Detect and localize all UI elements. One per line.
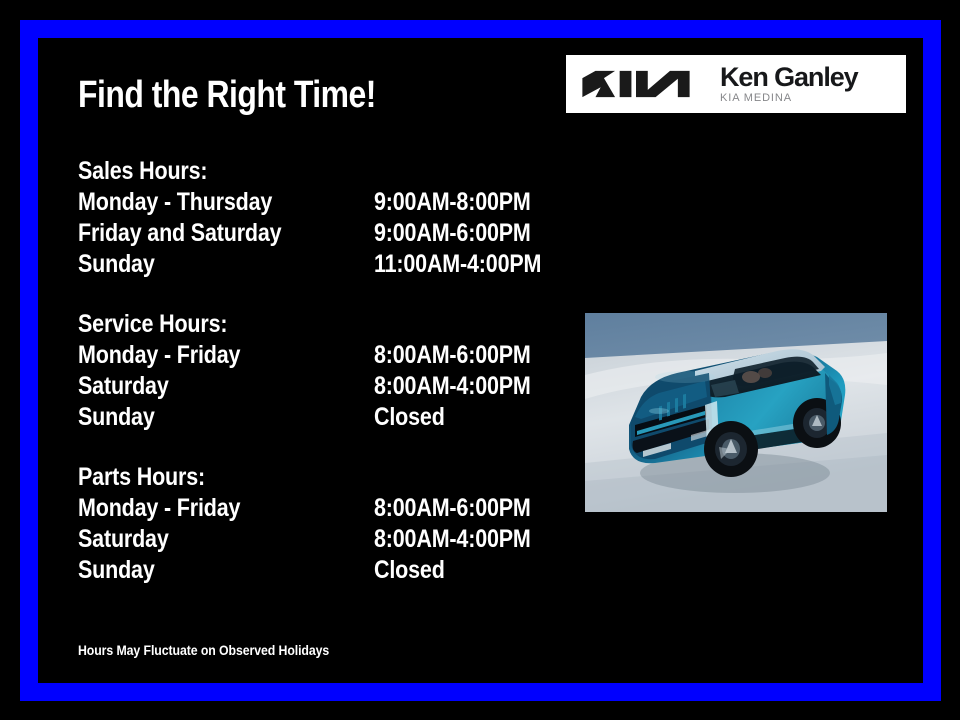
dealer-logo-panel: Ken Ganley KIA MEDINA <box>566 55 906 113</box>
hours-block-heading: Service Hours: <box>78 309 525 340</box>
hours-row: Saturday8:00AM-4:00PM <box>78 371 598 402</box>
hours-row-day: Saturday <box>78 524 333 555</box>
hours-row: Monday - Thursday9:00AM-8:00PM <box>78 187 598 218</box>
page-title: Find the Right Time! <box>78 76 376 114</box>
dealer-name: Ken Ganley <box>720 64 858 90</box>
hours-row: Saturday8:00AM-4:00PM <box>78 524 598 555</box>
hours-block-heading: Parts Hours: <box>78 462 525 493</box>
hours-row-time: 11:00AM-4:00PM <box>374 249 541 280</box>
hours-row: Monday - Friday8:00AM-6:00PM <box>78 340 598 371</box>
hours-row: Sunday11:00AM-4:00PM <box>78 249 598 280</box>
dealer-subtitle: KIA MEDINA <box>720 92 858 105</box>
hours-row-day: Friday and Saturday <box>78 218 333 249</box>
hours-row: Monday - Friday8:00AM-6:00PM <box>78 493 598 524</box>
dealer-logo-text: Ken Ganley KIA MEDINA <box>720 64 858 105</box>
vehicle-photo-illustration <box>585 313 887 512</box>
hours-block: Sales Hours:Monday - Thursday9:00AM-8:00… <box>78 156 598 280</box>
hours-block-heading: Sales Hours: <box>78 156 525 187</box>
hours-row-time: 9:00AM-6:00PM <box>374 218 531 249</box>
holiday-disclaimer: Hours May Fluctuate on Observed Holidays <box>78 642 329 658</box>
hours-row-time: Closed <box>374 555 445 586</box>
hours-row-day: Monday - Thursday <box>78 187 333 218</box>
hours-row-time: 8:00AM-4:00PM <box>374 371 531 402</box>
slide-content-area: Find the Right Time! Sales Hours:Monday … <box>38 38 923 683</box>
hours-row-day: Sunday <box>78 555 333 586</box>
slide: Find the Right Time! Sales Hours:Monday … <box>0 0 960 720</box>
hours-row-day: Saturday <box>78 371 333 402</box>
hours-row-day: Sunday <box>78 402 333 433</box>
hours-row-time: 8:00AM-6:00PM <box>374 493 531 524</box>
kia-logo-mark <box>580 67 692 101</box>
hours-row-time: 8:00AM-4:00PM <box>374 524 531 555</box>
hours-row-day: Sunday <box>78 249 333 280</box>
hours-row-time: 8:00AM-6:00PM <box>374 340 531 371</box>
hours-row-time: Closed <box>374 402 445 433</box>
vehicle-photo <box>585 313 887 512</box>
hours-row-day: Monday - Friday <box>78 493 333 524</box>
hours-list: Sales Hours:Monday - Thursday9:00AM-8:00… <box>78 156 598 586</box>
hours-row-day: Monday - Friday <box>78 340 333 371</box>
hours-row-time: 9:00AM-8:00PM <box>374 187 531 218</box>
hours-block: Service Hours:Monday - Friday8:00AM-6:00… <box>78 309 598 433</box>
hours-row: SundayClosed <box>78 402 598 433</box>
hours-row: Friday and Saturday9:00AM-6:00PM <box>78 218 598 249</box>
hours-row: SundayClosed <box>78 555 598 586</box>
hours-block: Parts Hours:Monday - Friday8:00AM-6:00PM… <box>78 462 598 586</box>
